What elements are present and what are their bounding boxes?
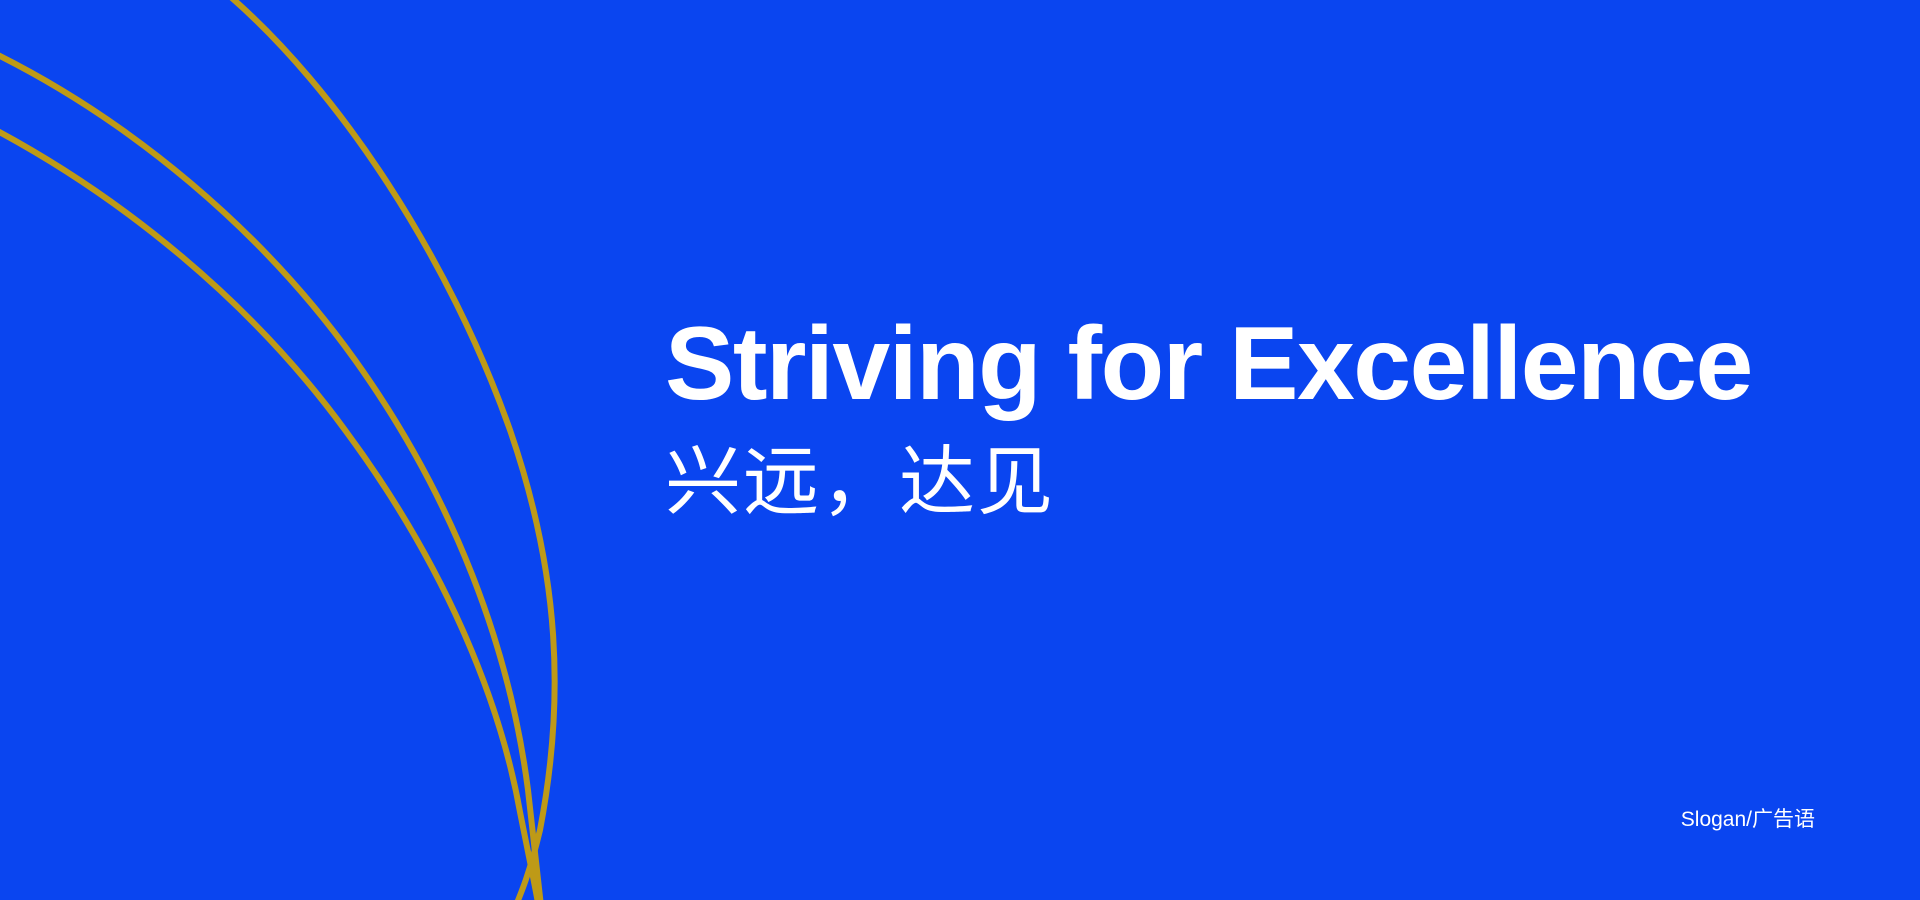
gold-arc-outer-icon — [225, 0, 555, 900]
slogan-text-block: Striving for Excellence 兴远，达见 — [665, 312, 1865, 522]
slogan-caption: Slogan/广告语 — [1681, 807, 1815, 832]
headline-english: Striving for Excellence — [665, 312, 1865, 416]
headline-chinese: 兴远，达见 — [665, 442, 1865, 522]
gold-arc-inner-icon — [0, 128, 540, 900]
slogan-slide: Striving for Excellence 兴远，达见 Slogan/广告语 — [0, 0, 1920, 900]
gold-arc-middle-icon — [0, 52, 542, 900]
